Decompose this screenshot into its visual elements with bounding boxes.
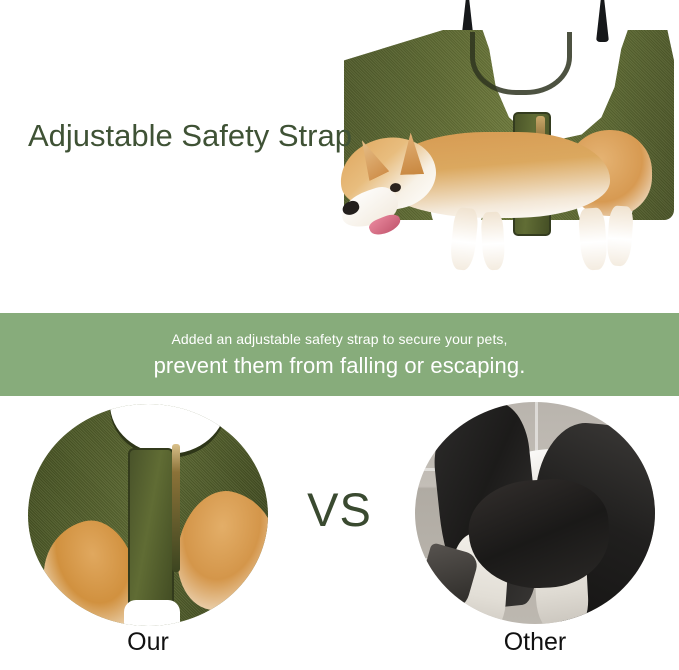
top-hero-section: Adjustable Safety Strap	[0, 0, 679, 313]
product-infographic: Adjustable Safety Strap	[0, 0, 679, 670]
our-bottom-notch	[124, 600, 180, 626]
hanging-strap-right-icon	[596, 0, 609, 42]
other-caption: Other	[415, 628, 655, 657]
dog-front-leg-left	[449, 207, 479, 271]
our-caption: Our	[28, 628, 268, 657]
dog-front-leg-right	[480, 211, 505, 270]
dog-back-leg-left	[578, 207, 608, 271]
dog-ear-left	[352, 135, 389, 181]
dog-photo-top	[330, 120, 679, 305]
page-title: Adjustable Safety Strap	[28, 118, 352, 154]
feature-banner: Added an adjustable safety strap to secu…	[0, 313, 679, 396]
comparison-section: VS Our Other	[0, 396, 679, 670]
dog-eye	[389, 182, 401, 192]
dog-ear-right	[399, 132, 424, 175]
dog-back-leg-right	[606, 205, 634, 267]
hammock-neck-rim	[470, 32, 572, 95]
banner-line-2: prevent them from falling or escaping.	[154, 351, 526, 381]
vs-label: VS	[0, 482, 679, 537]
banner-line-1: Added an adjustable safety strap to secu…	[171, 329, 507, 349]
